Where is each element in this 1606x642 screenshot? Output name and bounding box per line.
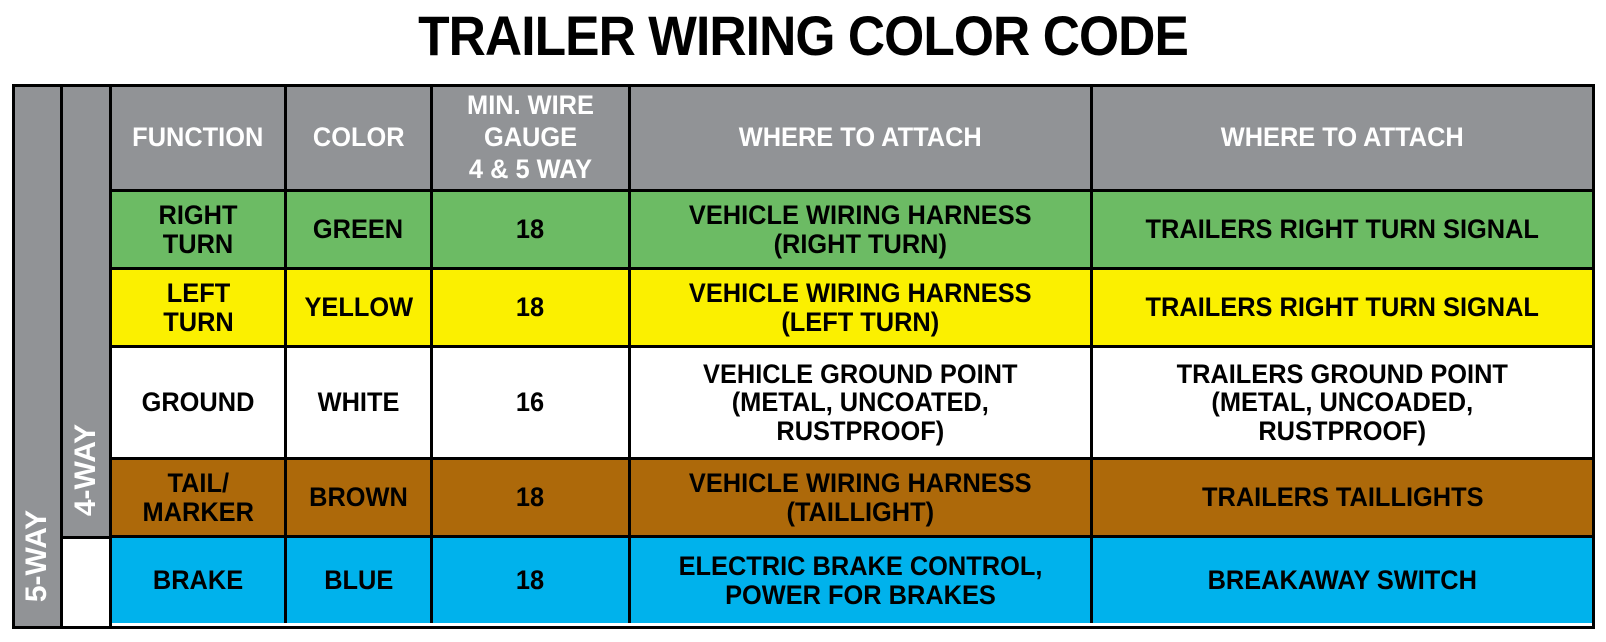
cell-color: WHITE (287, 348, 433, 457)
cell-attach-vehicle: ELECTRIC BRAKE CONTROL, POWER FOR BRAKES (631, 538, 1093, 623)
cell-function: BRAKE (112, 538, 287, 623)
cell-attach-trailer: TRAILERS TAILLIGHTS (1093, 460, 1592, 535)
cell-attach-vehicle: VEHICLE WIRING HARNESS (RIGHT TURN) (631, 192, 1093, 267)
cell-gauge: 16 (433, 348, 631, 457)
five-way-column: 5-WAY (15, 87, 63, 626)
cell-color: GREEN (287, 192, 433, 267)
four-way-label-wrap: 4-WAY (63, 405, 109, 535)
table-row: TAIL/ MARKER BROWN 18 VEHICLE WIRING HAR… (112, 460, 1592, 538)
cell-attach-trailer: TRAILERS GROUND POINT (METAL, UNCOADED, … (1093, 348, 1592, 457)
page-title: TRAILER WIRING COLOR CODE (64, 2, 1542, 70)
wiring-color-code-page: TRAILER WIRING COLOR CODE 5-WAY 4-WAY FU… (0, 0, 1606, 642)
five-way-label-wrap: 5-WAY (15, 496, 60, 616)
cell-attach-vehicle: VEHICLE WIRING HARNESS (TAILLIGHT) (631, 460, 1093, 535)
header-min-wire-gauge: MIN. WIRE GAUGE 4 & 5 WAY (433, 87, 631, 189)
cell-attach-trailer: TRAILERS RIGHT TURN SIGNAL (1093, 270, 1592, 345)
cell-function: TAIL/ MARKER (112, 460, 287, 535)
cell-attach-vehicle: VEHICLE GROUND POINT (METAL, UNCOATED, R… (631, 348, 1093, 457)
cell-color: BROWN (287, 460, 433, 535)
cell-attach-trailer: TRAILERS RIGHT TURN SIGNAL (1093, 192, 1592, 267)
cell-gauge: 18 (433, 270, 631, 345)
four-way-label: 4-WAY (69, 424, 103, 516)
cell-attach-trailer: BREAKAWAY SWITCH (1093, 538, 1592, 623)
cell-color: BLUE (287, 538, 433, 623)
header-where-to-attach-vehicle: WHERE TO ATTACH (631, 87, 1093, 189)
table-grid: 5-WAY 4-WAY FUNCTION COLOR MIN. WIRE GAU… (15, 87, 1592, 626)
table-header-row: FUNCTION COLOR MIN. WIRE GAUGE 4 & 5 WAY… (112, 87, 1592, 192)
table-row: RIGHT TURN GREEN 18 VEHICLE WIRING HARNE… (112, 192, 1592, 270)
cell-function: RIGHT TURN (112, 192, 287, 267)
header-function: FUNCTION (112, 87, 287, 189)
four-way-column: 4-WAY (63, 87, 112, 626)
cell-attach-vehicle: VEHICLE WIRING HARNESS (LEFT TURN) (631, 270, 1093, 345)
header-where-to-attach-trailer: WHERE TO ATTACH (1093, 87, 1592, 189)
cell-gauge: 18 (433, 538, 631, 623)
five-way-label: 5-WAY (21, 510, 55, 602)
wiring-table: 5-WAY 4-WAY FUNCTION COLOR MIN. WIRE GAU… (12, 84, 1595, 629)
cell-function: LEFT TURN (112, 270, 287, 345)
cell-function: GROUND (112, 348, 287, 457)
table-row: LEFT TURN YELLOW 18 VEHICLE WIRING HARNE… (112, 270, 1592, 348)
cell-color: YELLOW (287, 270, 433, 345)
table-row: BRAKE BLUE 18 ELECTRIC BRAKE CONTROL, PO… (112, 538, 1592, 623)
table-row: GROUND WHITE 16 VEHICLE GROUND POINT (ME… (112, 348, 1592, 460)
table-body: FUNCTION COLOR MIN. WIRE GAUGE 4 & 5 WAY… (112, 87, 1592, 626)
header-color: COLOR (287, 87, 433, 189)
cell-gauge: 18 (433, 192, 631, 267)
cell-gauge: 18 (433, 460, 631, 535)
